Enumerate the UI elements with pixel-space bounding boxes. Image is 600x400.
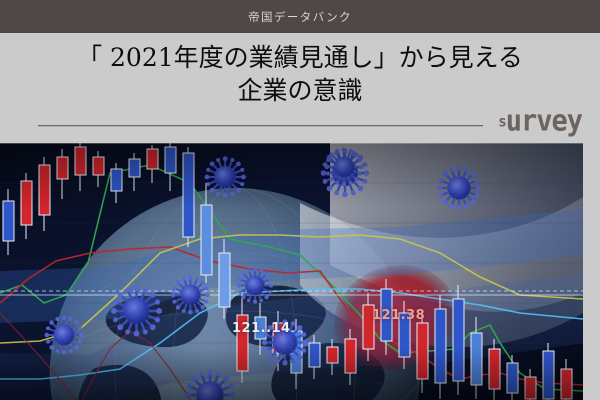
photo-artwork bbox=[0, 143, 583, 400]
brand-name: 帝国データバンク bbox=[248, 9, 352, 25]
page-title: 「 2021年度の業績見通し」から見える 企業の意識 bbox=[0, 41, 600, 107]
brand-bar: 帝国データバンク bbox=[0, 0, 600, 33]
cover-photo: 121..14 121.38 120.16 119.78 bbox=[0, 143, 583, 400]
title-line-1: 「 2021年度の業績見通し」から見える bbox=[77, 43, 523, 72]
survey-logo-text: urvey bbox=[506, 108, 582, 136]
report-cover-card: 帝国データバンク 「 2021年度の業績見通し」から見える 企業の意識 surv… bbox=[0, 0, 600, 400]
survey-logo-prefix: s bbox=[498, 108, 505, 136]
survey-logo: survey bbox=[498, 106, 582, 136]
title-divider bbox=[38, 125, 483, 127]
title-line-2: 企業の意識 bbox=[0, 74, 600, 107]
photo-right-gutter bbox=[583, 143, 600, 400]
